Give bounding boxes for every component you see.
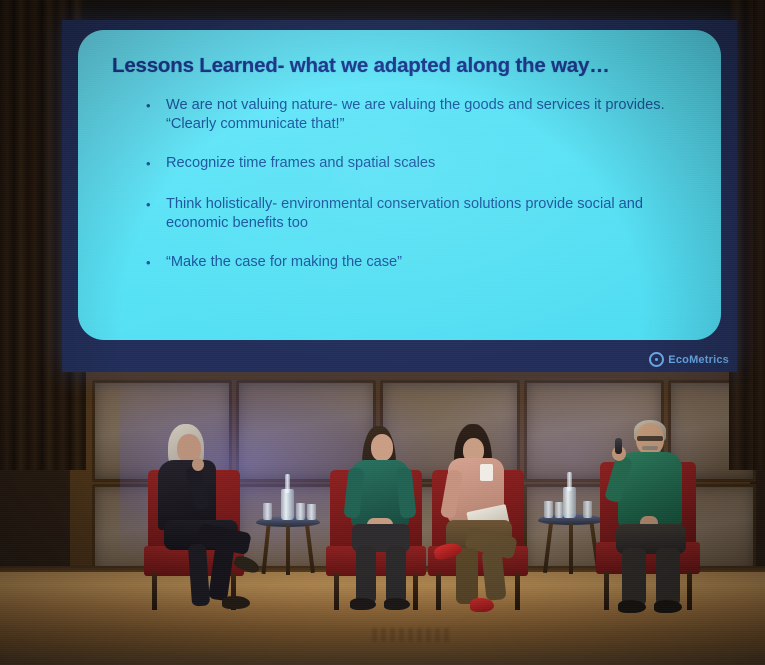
drinking-glass [544, 501, 553, 518]
panelist-2-leg [386, 546, 406, 604]
floor-marking [372, 628, 452, 642]
drinking-glass [555, 502, 563, 518]
water-bottle-2 [563, 472, 576, 518]
panelist-2 [340, 426, 430, 616]
panelist-4-shoe [654, 600, 682, 613]
panelist-2-shoe [350, 598, 376, 610]
panelist-3 [436, 424, 536, 619]
slide-bullet-text: “Make the case for making the case” [166, 253, 706, 273]
bullet-marker-icon: • [146, 253, 166, 273]
slide-bullet-text: Think holistically- environmental conser… [166, 195, 706, 234]
bottle-body [563, 487, 576, 518]
side-table-2 [538, 514, 604, 574]
drinking-glass [583, 501, 592, 518]
slide-bullet-item: • Think holistically- environmental cons… [146, 195, 706, 234]
presentation-stage-scene: Lessons Learned- what we adapted along t… [0, 0, 765, 665]
table-leg [569, 523, 573, 574]
panelist-3-leg-lower [456, 548, 478, 604]
bottle-body [281, 489, 294, 520]
panelist-4-leg [656, 548, 680, 606]
water-bottle-1 [281, 474, 294, 520]
bullet-marker-icon: • [146, 154, 166, 174]
panelist-3-shoe-red [470, 598, 494, 612]
panelist-2-head [371, 434, 393, 461]
table-leg [261, 525, 270, 574]
panelist-4-glasses-icon [637, 436, 663, 441]
slide-bullet-item: • Recognize time frames and spatial scal… [146, 154, 706, 174]
microphone-icon [615, 438, 622, 454]
projection-screen: Lessons Learned- what we adapted along t… [62, 20, 737, 372]
slide-bullet-item: • We are not valuing nature- we are valu… [146, 96, 706, 135]
panelist-4-mustache [642, 446, 658, 450]
slide-bullet-item: • “Make the case for making the case” [146, 253, 706, 273]
drinking-glass [296, 503, 305, 520]
panelist-2-leg [356, 546, 376, 604]
slide-bullet-text: Recognize time frames and spatial scales [166, 154, 706, 174]
table-leg [543, 523, 553, 573]
panelist-4 [608, 420, 708, 620]
panelist-3-badge [480, 464, 493, 481]
drinking-glass [263, 503, 272, 520]
slide-bullet-text: We are not valuing nature- we are valuin… [166, 96, 706, 135]
panelist-1-hand [192, 458, 204, 471]
drinking-glass [307, 504, 316, 520]
slide-bullet-list: • We are not valuing nature- we are valu… [146, 96, 706, 291]
panelist-4-shoe [618, 600, 646, 613]
panelist-1-shoe [222, 596, 250, 609]
panelist-1 [150, 424, 260, 624]
logo-text: EcoMetrics [668, 354, 729, 366]
panelist-4-leg [622, 548, 646, 606]
bullet-marker-icon: • [146, 96, 166, 135]
side-table-1 [256, 516, 320, 574]
table-leg [305, 525, 315, 573]
slide-title: Lessons Learned- what we adapted along t… [112, 54, 610, 78]
bullet-marker-icon: • [146, 195, 166, 234]
target-circle-icon [649, 352, 664, 367]
panelist-1-leg-crossed [188, 543, 210, 606]
chair-leg [334, 574, 339, 610]
panelist-2-shoe [384, 598, 410, 610]
table-leg [286, 525, 290, 575]
presentation-slide: Lessons Learned- what we adapted along t… [78, 30, 721, 340]
ecometrics-logo: EcoMetrics [649, 352, 729, 367]
